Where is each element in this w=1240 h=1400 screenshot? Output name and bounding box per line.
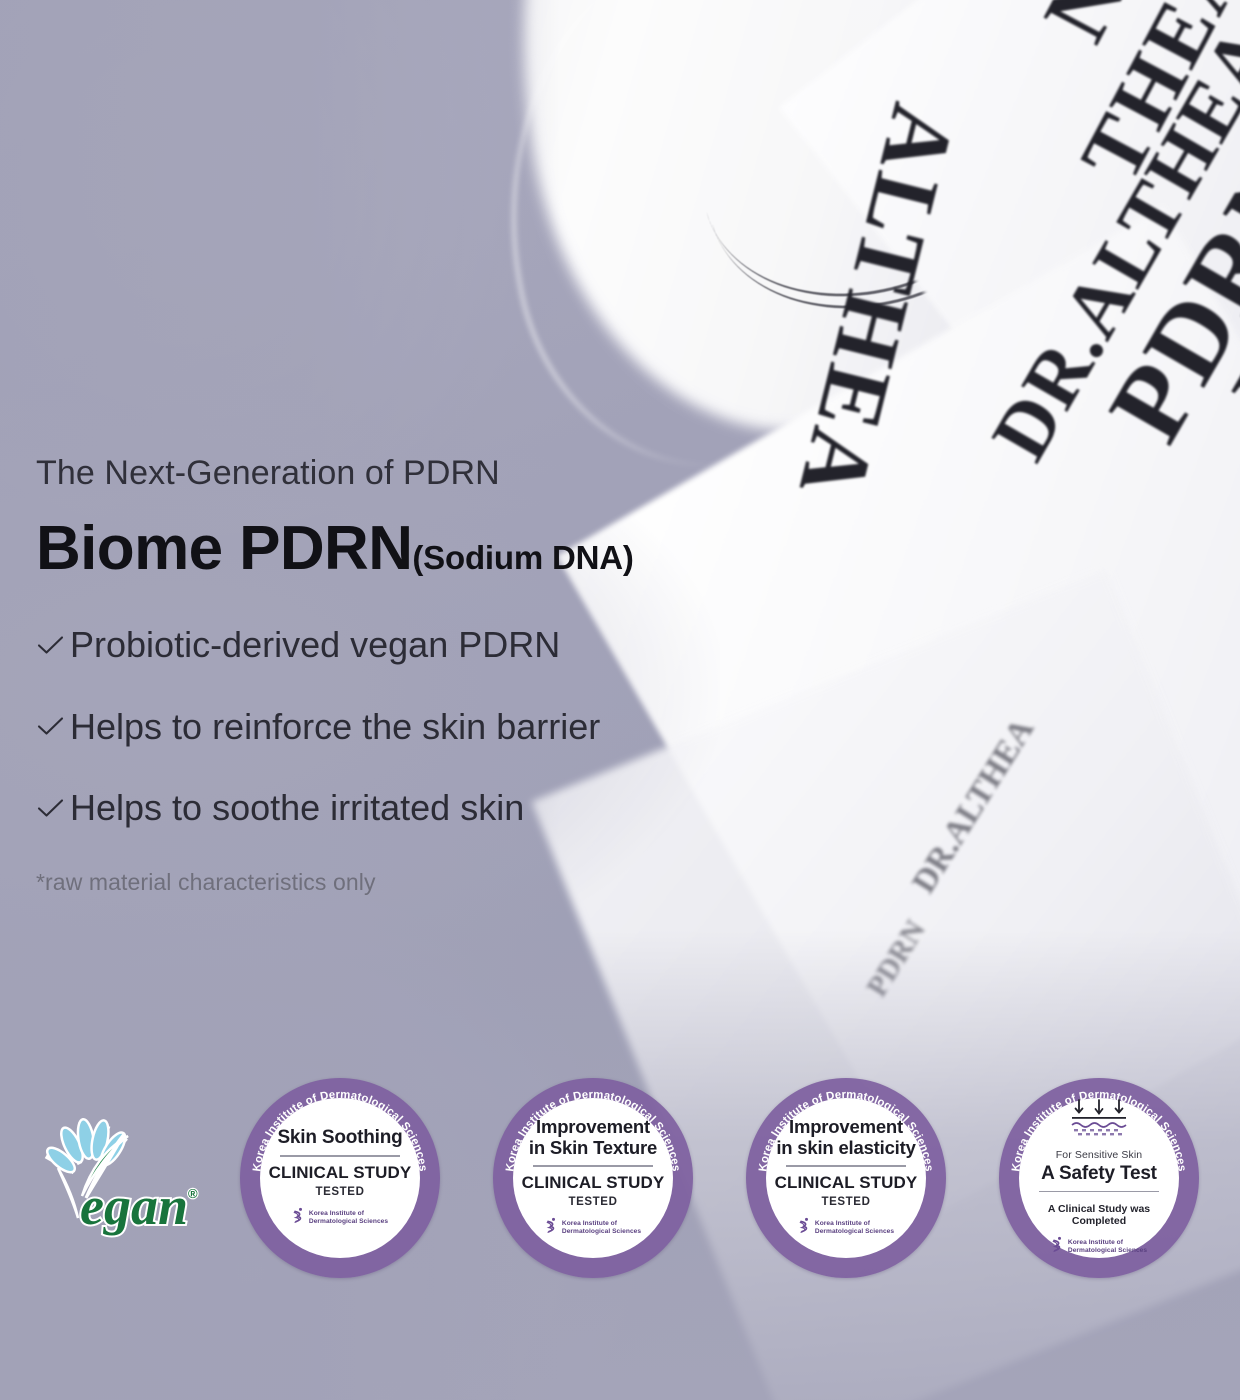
list-item: Probiotic-derived vegan PDRN [36, 624, 896, 665]
kids-org-text: Korea Institute of Dermatological Scienc… [815, 1220, 894, 1236]
badge-skin-texture: Korea Institute of Dermatological Scienc… [493, 1078, 693, 1278]
badge-divider [533, 1165, 653, 1167]
badge-inner: Improvement in skin elasticity CLINICAL … [766, 1098, 926, 1258]
check-icon [36, 796, 70, 820]
badge-inner: Skin Soothing CLINICAL STUDY TESTED Kore… [260, 1098, 420, 1258]
kids-emblem-icon [1051, 1236, 1064, 1258]
badge-safety-test: Korea Institute of Dermatological Scienc… [999, 1078, 1199, 1278]
badge-inner: For Sensitive Skin A Safety Test A Clini… [1019, 1098, 1179, 1258]
badge-tested-label: TESTED [822, 1196, 871, 1208]
badge-skin-elasticity: Korea Institute of Dermatological Scienc… [746, 1078, 946, 1278]
kids-org-line-2: Dermatological Sciences [815, 1228, 894, 1235]
kids-org-text: Korea Institute of Dermatological Scienc… [309, 1210, 388, 1226]
badge-title-line-1: Improvement [789, 1116, 903, 1137]
kids-org-logo: Korea Institute of Dermatological Scienc… [545, 1217, 641, 1239]
hero-copy: The Next-Generation of PDRN Biome PDRN (… [36, 455, 896, 896]
certification-badges: Korea Institute of Dermatological Scienc… [240, 1078, 1199, 1278]
list-item-label: Probiotic-derived vegan PDRN [70, 624, 560, 665]
vegan-logo: egan ® [28, 1112, 208, 1242]
badge-skin-soothing: Korea Institute of Dermatological Scienc… [240, 1078, 440, 1278]
kids-org-text: Korea Institute of Dermatological Scienc… [1068, 1239, 1147, 1255]
kids-org-line-2: Dermatological Sciences [309, 1218, 388, 1225]
badge-pre-subtitle: For Sensitive Skin [1056, 1149, 1142, 1161]
kids-org-logo: Korea Institute of Dermatological Scienc… [292, 1207, 388, 1229]
vegan-wordmark: egan [80, 1176, 188, 1236]
kids-org-logo: Korea Institute of Dermatological Scienc… [1051, 1236, 1147, 1258]
title-main: Biome PDRN [36, 518, 412, 580]
badge-title-line-2: in skin elasticity [776, 1137, 915, 1158]
title-subtitle: (Sodium DNA) [412, 539, 633, 577]
badge-study-label: CLINICAL STUDY [775, 1173, 918, 1193]
badge-tested-label: TESTED [316, 1186, 365, 1198]
skin-absorption-icon [1066, 1098, 1132, 1145]
badge-title: A Safety Test [1041, 1163, 1157, 1184]
page-title: Biome PDRN (Sodium DNA) [36, 518, 896, 580]
badge-study-label: CLINICAL STUDY [522, 1173, 665, 1193]
kids-org-line-2: Dermatological Sciences [1068, 1247, 1147, 1254]
badge-divider [1039, 1191, 1159, 1192]
benefit-list: Probiotic-derived vegan PDRN Helps to re… [36, 624, 896, 828]
list-item-label: Helps to reinforce the skin barrier [70, 706, 600, 747]
list-item: Helps to soothe irritated skin [36, 787, 896, 828]
registered-mark: ® [188, 1186, 198, 1201]
kids-org-line-1: Korea Institute of [562, 1220, 617, 1227]
badge-divider [280, 1155, 400, 1157]
badge-inner: Improvement in Skin Texture CLINICAL STU… [513, 1098, 673, 1258]
kids-org-logo: Korea Institute of Dermatological Scienc… [798, 1217, 894, 1239]
kids-org-text: Korea Institute of Dermatological Scienc… [562, 1220, 641, 1236]
badge-study-label: CLINICAL STUDY [269, 1163, 412, 1183]
badge-title-line-1: Improvement [536, 1116, 650, 1137]
product-banner: ALTHEA THEA N DR.ALTHEA PDRN REJU DR.ALT… [0, 0, 1240, 1400]
badge-tested-label: TESTED [569, 1196, 618, 1208]
kids-org-line-1: Korea Institute of [1068, 1239, 1123, 1246]
list-item-label: Helps to soothe irritated skin [70, 787, 524, 828]
badge-title: Improvement in Skin Texture [529, 1117, 657, 1158]
badge-title: Improvement in skin elasticity [776, 1117, 915, 1158]
eyebrow-text: The Next-Generation of PDRN [36, 455, 896, 492]
kids-emblem-icon [798, 1217, 811, 1239]
disclaimer-note: *raw material characteristics only [36, 869, 896, 896]
kids-emblem-icon [292, 1207, 305, 1229]
kids-emblem-icon [545, 1217, 558, 1239]
check-icon [36, 633, 70, 657]
kids-org-line-1: Korea Institute of [815, 1220, 870, 1227]
badge-divider [786, 1165, 906, 1167]
kids-org-line-1: Korea Institute of [309, 1210, 364, 1217]
badge-title: Skin Soothing [277, 1127, 402, 1148]
list-item: Helps to reinforce the skin barrier [36, 706, 896, 747]
badge-completed-label: A Clinical Study was Completed [1025, 1203, 1173, 1227]
check-icon [36, 714, 70, 738]
kids-org-line-2: Dermatological Sciences [562, 1228, 641, 1235]
badge-title-line-2: in Skin Texture [529, 1137, 657, 1158]
